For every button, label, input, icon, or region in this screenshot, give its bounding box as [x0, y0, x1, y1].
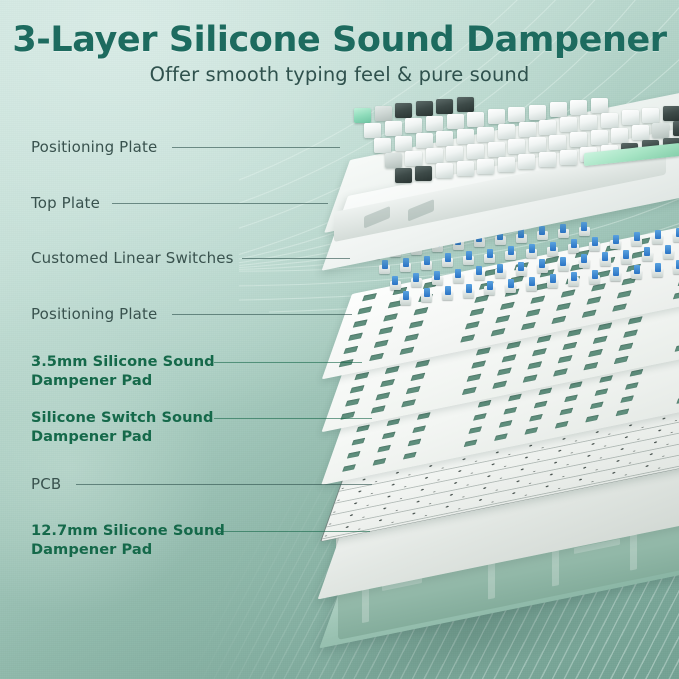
- leader-line-customed-linear-switches: [242, 258, 350, 259]
- leader-line-positioning-plate-lower: [172, 314, 352, 315]
- leader-line-pad-3-5mm: [214, 362, 362, 363]
- callout-pad-12-7mm: 12.7mm Silicone Sound Dampener Pad: [31, 522, 225, 559]
- callout-label-text: Positioning Plate: [31, 305, 157, 324]
- callout-label-text: 3.5mm Silicone Sound Dampener Pad: [31, 353, 215, 390]
- callout-customed-linear-switches: Customed Linear Switches: [31, 249, 234, 268]
- callout-label-text: Silicone Switch Sound Dampener Pad: [31, 409, 213, 446]
- callout-label-group: Positioning Plate Top Plate Customed Lin…: [0, 0, 360, 679]
- callout-label-text: Customed Linear Switches: [31, 249, 234, 268]
- callout-label-text: 12.7mm Silicone Sound Dampener Pad: [31, 522, 225, 559]
- callout-positioning-plate-top: Positioning Plate: [31, 138, 157, 157]
- leader-line-pad-12-7mm: [216, 531, 370, 532]
- callout-pcb: PCB: [31, 475, 61, 494]
- callout-positioning-plate-lower: Positioning Plate: [31, 305, 157, 324]
- callout-label-text: PCB: [31, 475, 61, 494]
- callout-pad-switch: Silicone Switch Sound Dampener Pad: [31, 409, 213, 446]
- callout-label-text: Top Plate: [31, 194, 100, 213]
- keycaps-layer: [352, 104, 679, 224]
- leader-line-pcb: [76, 484, 372, 485]
- product-infographic: 3-Layer Silicone Sound Dampener Offer sm…: [0, 0, 679, 679]
- callout-pad-3-5mm: 3.5mm Silicone Sound Dampener Pad: [31, 353, 215, 390]
- callout-label-text: Positioning Plate: [31, 138, 157, 157]
- leader-line-pad-switch: [214, 418, 372, 419]
- leader-line-positioning-plate-top: [172, 147, 340, 148]
- leader-line-top-plate: [112, 203, 328, 204]
- callout-top-plate: Top Plate: [31, 194, 100, 213]
